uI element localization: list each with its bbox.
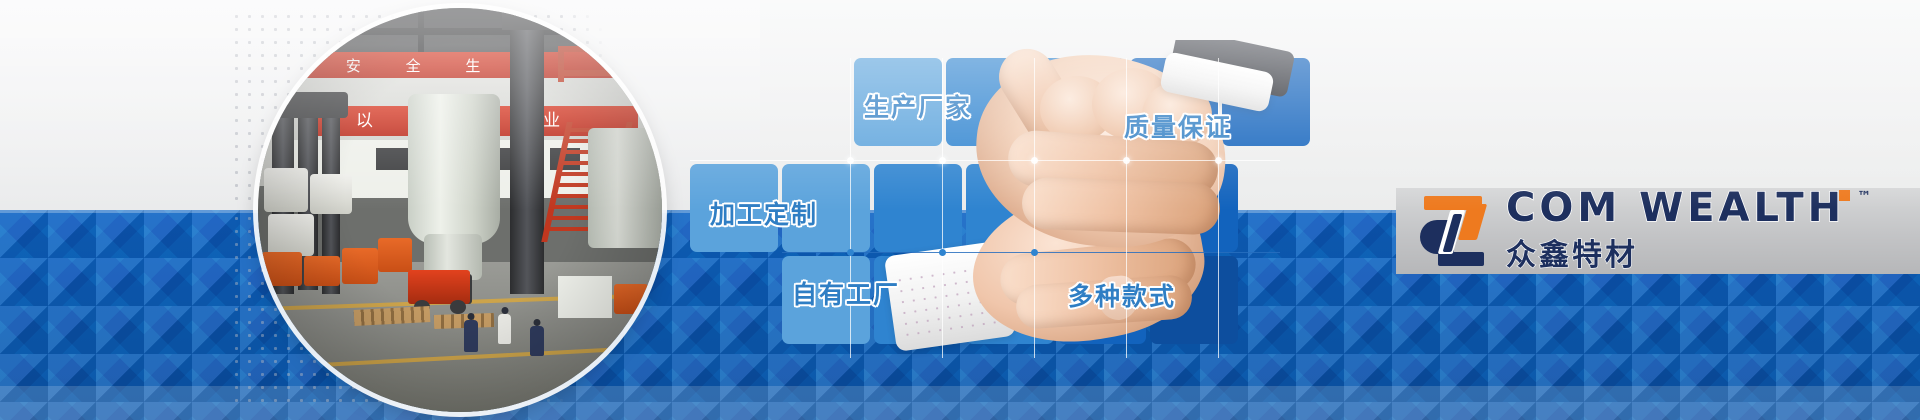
feature-label-multiple-styles: 多种款式 <box>1068 277 1176 313</box>
feature-label-own-factory: 自有工厂 <box>792 275 900 311</box>
logo-accent-dot <box>1839 190 1850 201</box>
zx-monogram-icon <box>1418 194 1492 268</box>
feature-label-manufacturer: 生产厂家 <box>864 88 972 124</box>
logo-english-name: COM WEALTH ™ <box>1506 188 1845 229</box>
promo-banner: 安 全 生 产 以 精 立 业 <box>0 0 1920 420</box>
feature-label-custom-process: 加工定制 <box>710 195 818 231</box>
logo-english-text: COM WEALTH <box>1506 185 1845 231</box>
factory-interior-photo: 安 全 生 产 以 精 立 业 <box>258 8 662 412</box>
trademark-symbol: ™ <box>1857 190 1871 204</box>
feature-label-quality: 质量保证 <box>1124 108 1232 144</box>
logo-chinese-name: 众鑫特材 <box>1506 230 1845 274</box>
company-logo: COM WEALTH ™ 众鑫特材 <box>1418 190 1845 272</box>
